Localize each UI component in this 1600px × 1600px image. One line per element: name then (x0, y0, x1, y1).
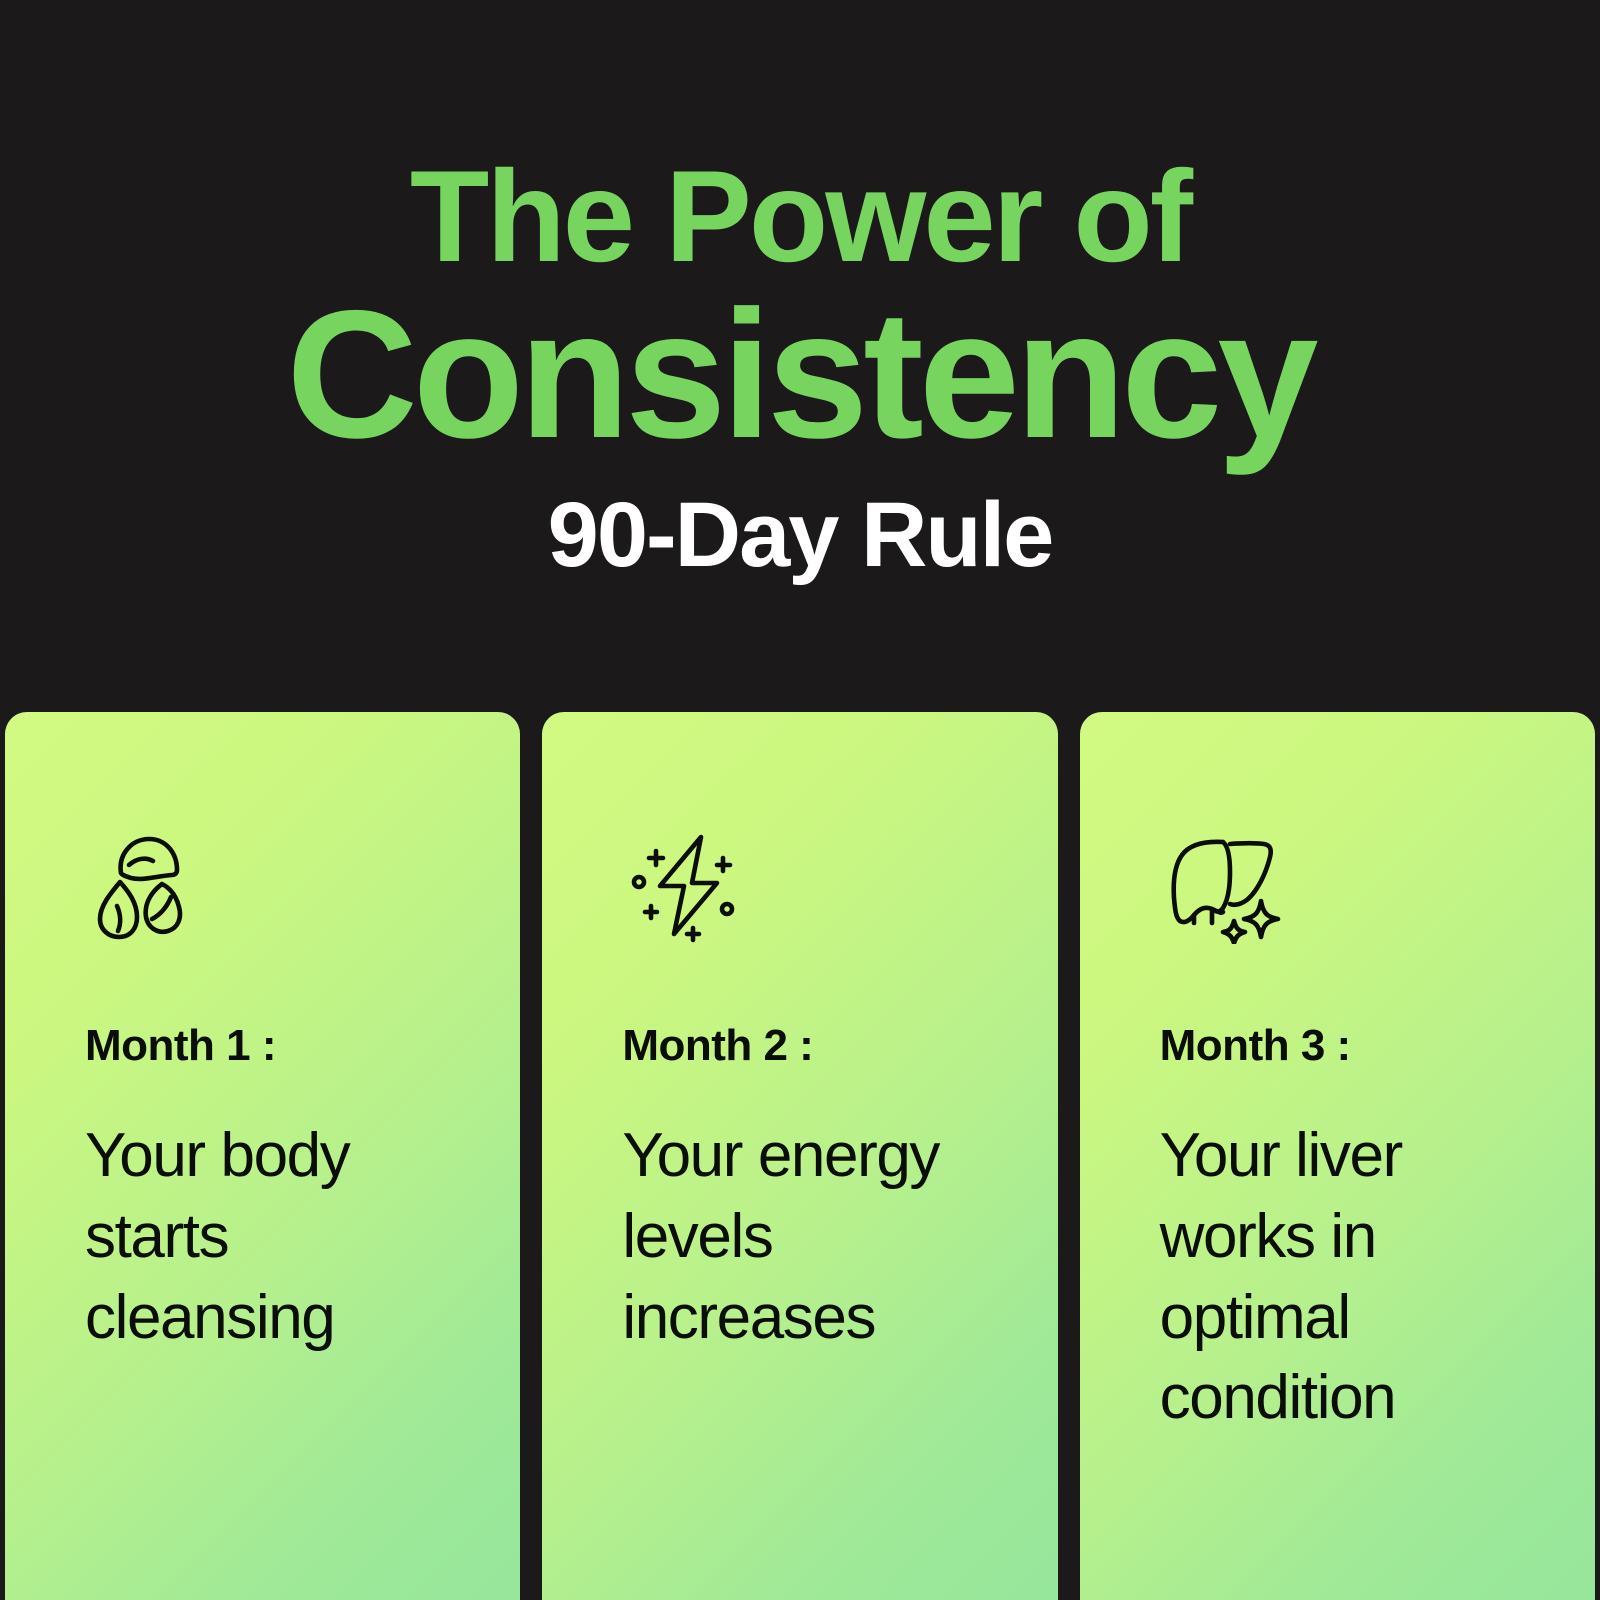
card-body-text: Your body starts cleansing (85, 1070, 520, 1358)
page-title-line-1: The Power of (0, 0, 1600, 283)
header-section: The Power of Consistency 90-Day Rule (0, 0, 1600, 712)
page-title-line-2: Consistency (0, 283, 1600, 465)
card-body-text: Your energy levels increases (622, 1070, 1057, 1358)
lightning-sparkle-icon (622, 824, 750, 944)
card-month-label: Month 3 : (1160, 944, 1595, 1070)
card-month-label: Month 2 : (622, 944, 1057, 1070)
month-card-3: Month 3 : Your liver works in optimal co… (1080, 712, 1595, 1600)
month-card-2: Month 2 : Your energy levels increases (542, 712, 1057, 1600)
card-month-label: Month 1 : (85, 944, 520, 1070)
infographic-page: The Power of Consistency 90-Day Rule (0, 0, 1600, 1600)
recycle-leaves-icon (85, 824, 213, 944)
liver-sparkle-icon (1160, 824, 1288, 944)
card-row: Month 1 : Your body starts cleansing (5, 712, 1595, 1600)
page-subtitle: 90-Day Rule (0, 465, 1600, 584)
month-card-1: Month 1 : Your body starts cleansing (5, 712, 520, 1600)
card-body-text: Your liver works in optimal condition (1160, 1070, 1595, 1438)
